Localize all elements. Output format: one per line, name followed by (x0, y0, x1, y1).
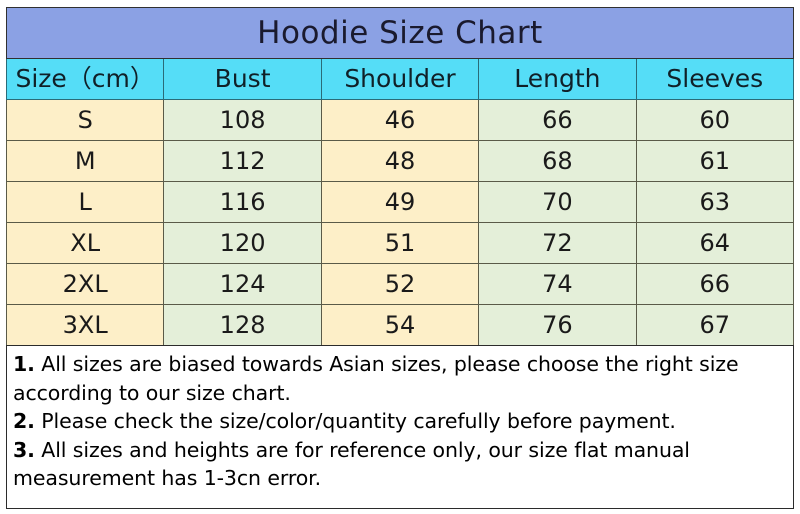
note-text: All sizes are biased towards Asian sizes… (41, 352, 738, 376)
cell-bust: 120 (164, 223, 321, 264)
cell-bust: 108 (164, 100, 321, 141)
title-row: Hoodie Size Chart (7, 8, 794, 59)
cell-sleeves: 66 (636, 264, 793, 305)
cell-length: 72 (479, 223, 636, 264)
cell-length: 74 (479, 264, 636, 305)
column-header-sleeves: Sleeves (636, 59, 793, 100)
cell-size: L (7, 182, 164, 223)
note-number: 1. (13, 352, 35, 376)
notes-section: 1. All sizes are biased towards Asian si… (6, 345, 794, 509)
cell-size: M (7, 141, 164, 182)
size-chart-page: Hoodie Size Chart Size（cm） Bust Shoulder… (0, 0, 800, 514)
table-row: L 116 49 70 63 (7, 182, 794, 223)
note-item: 3. All sizes and heights are for referen… (13, 436, 787, 465)
cell-shoulder: 49 (321, 182, 478, 223)
note-item-continuation: according to our size chart. (13, 379, 787, 408)
cell-size: 3XL (7, 305, 164, 346)
cell-bust: 128 (164, 305, 321, 346)
cell-bust: 112 (164, 141, 321, 182)
table-row: XL 120 51 72 64 (7, 223, 794, 264)
table-row: S 108 46 66 60 (7, 100, 794, 141)
cell-bust: 116 (164, 182, 321, 223)
table-row: 2XL 124 52 74 66 (7, 264, 794, 305)
table-row: 3XL 128 54 76 67 (7, 305, 794, 346)
chart-title-cell: Hoodie Size Chart (7, 8, 794, 59)
cell-length: 68 (479, 141, 636, 182)
note-number: 3. (13, 438, 35, 462)
size-chart-table-wrapper: Hoodie Size Chart Size（cm） Bust Shoulder… (6, 7, 794, 346)
page-title: Hoodie Size Chart (257, 15, 543, 51)
cell-sleeves: 61 (636, 141, 793, 182)
column-header-shoulder: Shoulder (321, 59, 478, 100)
cell-shoulder: 48 (321, 141, 478, 182)
cell-length: 70 (479, 182, 636, 223)
note-item-continuation: measurement has 1-3cn error. (13, 464, 787, 493)
cell-size: 2XL (7, 264, 164, 305)
cell-sleeves: 67 (636, 305, 793, 346)
note-text: measurement has 1-3cn error. (13, 466, 321, 490)
column-header-length: Length (479, 59, 636, 100)
cell-size: S (7, 100, 164, 141)
column-header-bust: Bust (164, 59, 321, 100)
cell-shoulder: 46 (321, 100, 478, 141)
cell-length: 66 (479, 100, 636, 141)
note-text: Please check the size/color/quantity car… (41, 409, 676, 433)
note-text: All sizes and heights are for reference … (41, 438, 690, 462)
cell-bust: 124 (164, 264, 321, 305)
note-item: 2. Please check the size/color/quantity … (13, 407, 787, 436)
note-number: 2. (13, 409, 35, 433)
cell-shoulder: 51 (321, 223, 478, 264)
cell-size: XL (7, 223, 164, 264)
note-text: according to our size chart. (13, 381, 291, 405)
cell-shoulder: 54 (321, 305, 478, 346)
table-row: M 112 48 68 61 (7, 141, 794, 182)
cell-sleeves: 63 (636, 182, 793, 223)
column-header-size: Size（cm） (7, 59, 164, 100)
size-chart-table: Hoodie Size Chart Size（cm） Bust Shoulder… (6, 7, 794, 346)
cell-shoulder: 52 (321, 264, 478, 305)
cell-length: 76 (479, 305, 636, 346)
cell-sleeves: 64 (636, 223, 793, 264)
note-item: 1. All sizes are biased towards Asian si… (13, 350, 787, 379)
table-header-row: Size（cm） Bust Shoulder Length Sleeves (7, 59, 794, 100)
cell-sleeves: 60 (636, 100, 793, 141)
